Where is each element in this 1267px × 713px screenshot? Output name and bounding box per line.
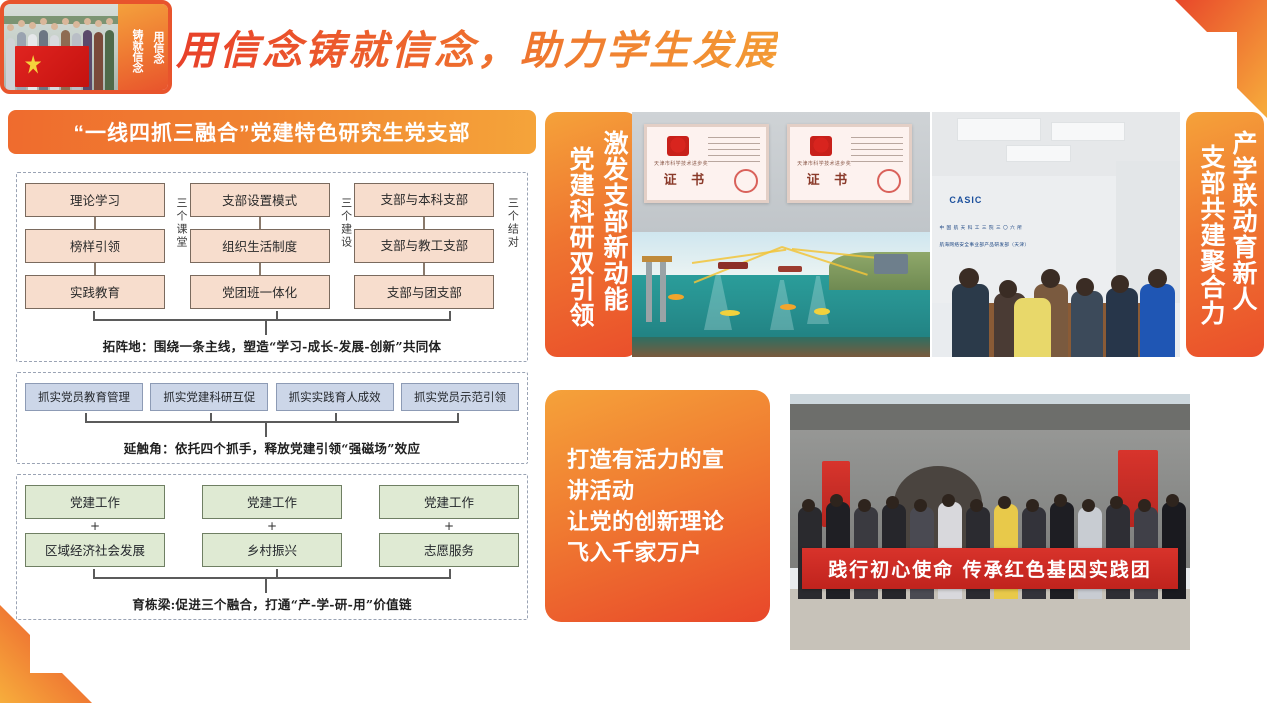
node-box: 实践教育 xyxy=(25,275,165,309)
plus-symbol: + xyxy=(25,519,165,533)
node-box: 党建工作 xyxy=(202,485,342,519)
plus-symbol: + xyxy=(379,519,519,533)
block-one-groups: 理论学习 榜样引领 实践教育 三个课堂 支部设置模式 组织生活制度 党团班 xyxy=(25,183,519,309)
node-box: 党建工作 xyxy=(379,485,519,519)
block-three-columns: 党建工作 + 区域经济社会发展 党建工作 + 乡村振兴 党建工作 + 志愿服务 xyxy=(25,485,519,567)
node-box: 支部与本科支部 xyxy=(354,183,494,217)
certificate-one-label: 天津市科学技术进步奖 xyxy=(654,160,708,167)
casic-org-line2: 航海网络安全事业部产品研发部（天津） xyxy=(939,242,1029,248)
block-three-caption: 育栋梁:促进三个融合，打通“产-学-研-用”价值链 xyxy=(25,593,519,613)
diagram-block-three: 党建工作 + 区域经济社会发展 党建工作 + 乡村振兴 党建工作 + 志愿服务 xyxy=(16,474,528,620)
certificate-two-label: 天津市科学技术进步奖 xyxy=(797,160,851,167)
left-column: “一线四抓三融合”党建特色研究生党支部 理论学习 榜样引领 实践教育 三个课堂 xyxy=(8,110,536,626)
block-three-connector xyxy=(25,569,519,593)
certificate-one: 天津市科学技术进步奖 证 书 xyxy=(644,124,769,203)
tile-left-line2: 党建科研双引领 xyxy=(565,146,595,328)
node-box: 党建工作 xyxy=(25,485,165,519)
page-header: 用信念 铸就信念 用信念铸就信念，助力学生发展 xyxy=(0,0,1267,96)
practice-banner: 践行初心使命 传承红色基因实践团 xyxy=(802,548,1178,589)
certificate-one-title: 证 书 xyxy=(664,169,710,188)
diagram-wrapper: 理论学习 榜样引领 实践教育 三个课堂 支部设置模式 组织生活制度 党团班 xyxy=(16,172,528,630)
casic-logo-text: CASIC xyxy=(949,195,982,205)
node-box: 理论学习 xyxy=(25,183,165,217)
node-box: 党团班一体化 xyxy=(190,275,330,309)
node-box: 支部与团支部 xyxy=(354,275,494,309)
diagram-block-one: 理论学习 榜样引领 实践教育 三个课堂 支部设置模式 组织生活制度 党团班 xyxy=(16,172,528,362)
block-one-connector xyxy=(25,311,519,335)
block-two-nodes: 抓实党员教育管理 抓实党建科研互促 抓实实践育人成效 抓实党员示范引领 xyxy=(25,383,519,411)
node-box: 抓实党员教育管理 xyxy=(25,383,143,411)
fusion-column: 党建工作 + 乡村振兴 xyxy=(202,485,342,567)
node-box: 区域经济社会发展 xyxy=(25,533,165,567)
ocean-network-photo xyxy=(632,232,930,357)
certificate-two: 天津市科学技术进步奖 证 书 xyxy=(787,124,912,203)
node-box: 乡村振兴 xyxy=(202,533,342,567)
tile-left-line1: 激发支部新动能 xyxy=(599,130,629,312)
node-box: 抓实实践育人成效 xyxy=(276,383,394,411)
group-column: 支部与本科支部 支部与教工支部 支部与团支部 三个结对 xyxy=(354,183,519,309)
node-box: 榜样引领 xyxy=(25,229,165,263)
connector-tick xyxy=(94,217,96,229)
section-banner: “一线四抓三融合”党建特色研究生党支部 xyxy=(8,110,536,154)
practice-group-photo: 践行初心使命 传承红色基因实践团 xyxy=(790,394,1190,650)
group-side-label: 三个建设 xyxy=(340,197,353,249)
promo-line2: 讲活动 xyxy=(567,475,725,506)
plus-symbol: + xyxy=(202,519,342,533)
group-column: 理论学习 榜样引领 实践教育 三个课堂 xyxy=(25,183,190,309)
fusion-column: 党建工作 + 志愿服务 xyxy=(379,485,519,567)
node-box: 抓实党员示范引领 xyxy=(401,383,519,411)
promo-tile: 打造有活力的宣 讲活动 让党的创新理论 飞入千家万户 xyxy=(545,390,770,622)
meeting-room-photo: CASIC 中 国 航 天 科 工 三 院 三 〇 六 所 航海网络安全事业部产… xyxy=(932,112,1180,357)
node-box: 组织生活制度 xyxy=(190,229,330,263)
node-box: 支部设置模式 xyxy=(190,183,330,217)
promo-line3: 让党的创新理论 xyxy=(567,506,725,537)
page-title: 用信念铸就信念，助力学生发展 xyxy=(176,14,778,80)
fusion-column: 党建工作 + 区域经济社会发展 xyxy=(25,485,165,567)
group-side-label: 三个结对 xyxy=(506,197,519,249)
group-column: 支部设置模式 组织生活制度 党团班一体化 三个建设 xyxy=(190,183,355,309)
connector-tick xyxy=(94,263,96,275)
tile-vertical-left: 激发支部新动能 党建科研双引领 xyxy=(545,112,637,357)
promo-line1: 打造有活力的宣 xyxy=(567,444,725,475)
certificate-two-title: 证 书 xyxy=(807,169,853,188)
connector-tick xyxy=(423,217,425,229)
promo-line4: 飞入千家万户 xyxy=(567,537,725,568)
block-one-caption: 拓阵地：围绕一条主线，塑造“学习-成长-发展-创新”共同体 xyxy=(25,335,519,355)
casic-org-line1: 中 国 航 天 科 工 三 院 三 〇 六 所 xyxy=(939,225,1022,231)
connector-tick xyxy=(259,217,261,229)
connector-tick xyxy=(259,263,261,275)
node-box: 支部与教工支部 xyxy=(354,229,494,263)
tile-right-line2: 支部共建聚合力 xyxy=(1196,144,1226,326)
node-box: 抓实党建科研互促 xyxy=(150,383,268,411)
connector-tick xyxy=(423,263,425,275)
group-side-label: 三个课堂 xyxy=(175,197,188,249)
diagram-block-two: 抓实党员教育管理 抓实党建科研互促 抓实实践育人成效 抓实党员示范引领 延触角：… xyxy=(16,372,528,464)
certificates-photo: 天津市科学技术进步奖 证 书 天津市科学技术进步奖 证 书 xyxy=(632,112,930,232)
block-two-connector xyxy=(25,413,519,437)
tile-right-line1: 产学联动育新人 xyxy=(1228,130,1258,312)
block-two-caption: 延触角：依托四个抓手，释放党建引领“强磁场”效应 xyxy=(25,437,519,457)
node-box: 志愿服务 xyxy=(379,533,519,567)
tile-vertical-right: 产学联动育新人 支部共建聚合力 xyxy=(1186,112,1264,357)
hero-frame xyxy=(0,0,172,94)
